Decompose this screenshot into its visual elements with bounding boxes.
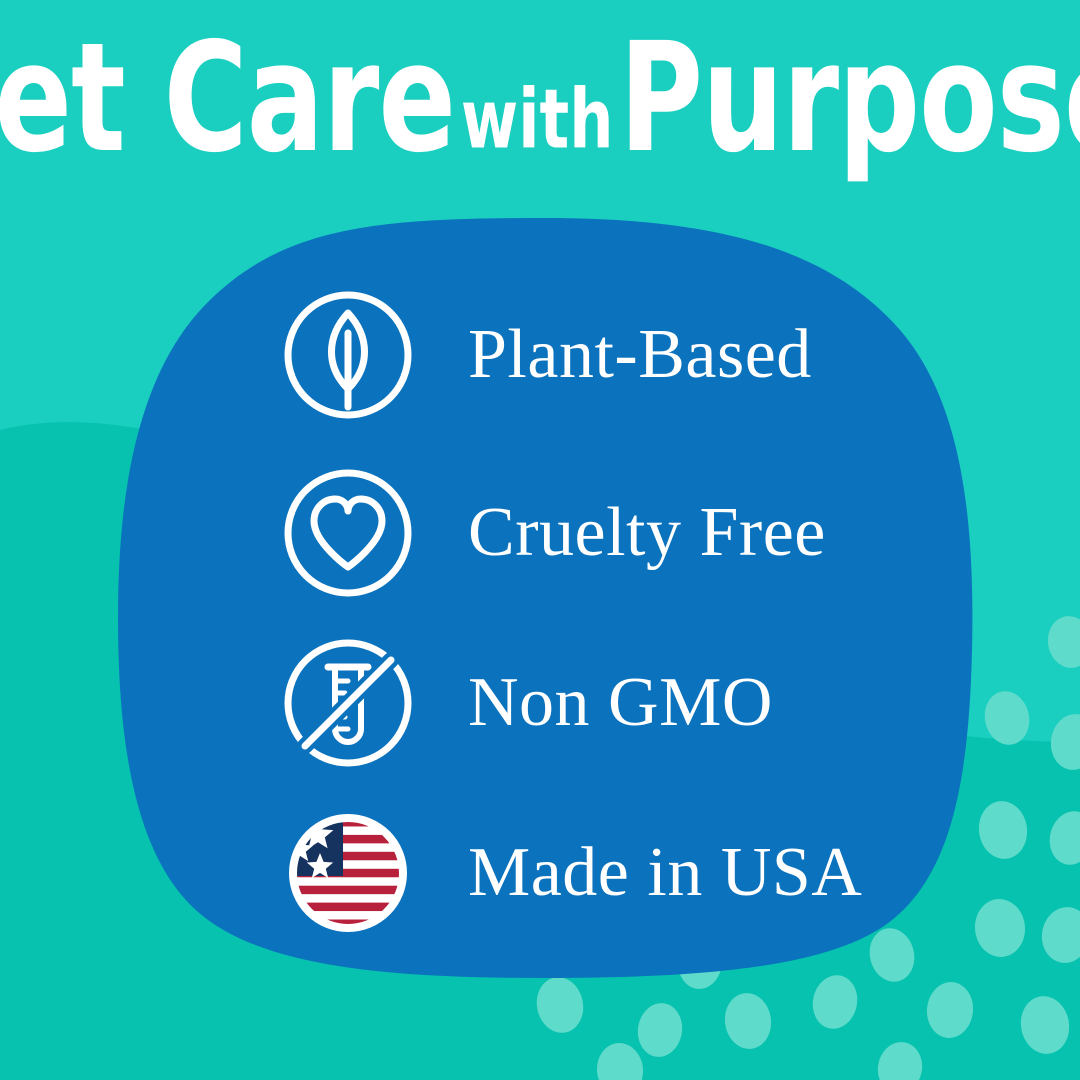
feature-row-cruelty-free[interactable]: Cruelty Free	[278, 458, 1018, 608]
feature-label-made-in-usa: Made in USA	[468, 838, 862, 908]
feature-list: Plant-Based Cruelty Free	[0, 0, 1080, 1080]
usa-flag-circle-icon	[278, 803, 418, 943]
feature-row-non-gmo[interactable]: Non GMO	[278, 628, 1018, 778]
feature-label-cruelty-free: Cruelty Free	[468, 498, 826, 568]
feature-row-made-in-usa[interactable]: Made in USA	[278, 798, 1018, 948]
heart-in-circle-icon	[278, 463, 418, 603]
feature-label-plant-based: Plant-Based	[468, 320, 812, 390]
promo-graphic: Pet CarewithPurpose® Plant-Based	[0, 0, 1080, 1080]
feature-row-plant-based[interactable]: Plant-Based	[278, 280, 1018, 430]
feature-label-non-gmo: Non GMO	[468, 668, 773, 738]
no-test-tube-icon	[278, 633, 418, 773]
leaf-in-circle-icon	[278, 285, 418, 425]
